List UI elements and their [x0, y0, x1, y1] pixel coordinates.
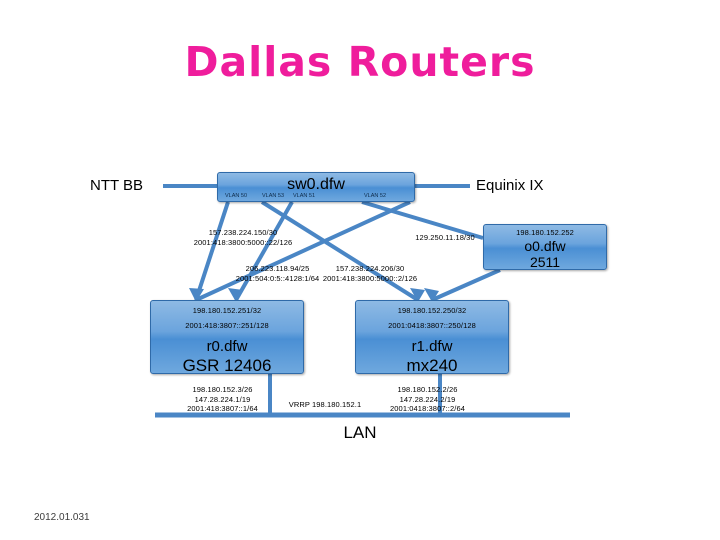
- annotation-lan-right: 198.180.152.2/26 147.28.224.2/19 2001:04…: [365, 385, 490, 414]
- r0-ipv6: 2001:418:3807::251/128: [151, 316, 303, 331]
- o0-ip: 198.180.152.252: [484, 225, 606, 238]
- label-equinix-ix: Equinix IX: [476, 177, 544, 194]
- label-ntt-bb: NTT BB: [90, 177, 143, 194]
- ntt-uplink-ipv4: 157.238.224.150/30: [168, 228, 318, 238]
- o0-link-ipv4: 129.250.11.18/30: [395, 233, 495, 243]
- lan-left-ipv6: 2001:418:3807::1/64: [160, 404, 285, 414]
- node-r1-dfw[interactable]: 198.180.152.250/32 2001:0418:3807::250/1…: [355, 300, 509, 374]
- annotation-lan-left: 198.180.152.3/26 147.28.224.1/19 2001:41…: [160, 385, 285, 414]
- equinix-peer-ipv4: 206.223.118.94/25: [230, 264, 325, 274]
- port-vlan-52[interactable]: VLAN 52: [364, 193, 386, 200]
- annotation-vrrp: VRRP 198.180.152.1: [270, 400, 380, 410]
- r1-ipv4: 198.180.152.250/32: [356, 301, 508, 316]
- wire-sw0-diagonal-left: [196, 202, 410, 300]
- port-vlan-50[interactable]: VLAN 50: [225, 193, 247, 200]
- slide-footer: 2012.01.031: [34, 512, 90, 523]
- slide-canvas: Dallas Routers: [0, 0, 720, 540]
- lan-right-ipv4-b: 147.28.224.2/19: [365, 395, 490, 405]
- lan-left-ipv4-b: 147.28.224.1/19: [160, 395, 285, 405]
- sw0-name: sw0.dfw: [218, 173, 414, 194]
- port-vlan-51[interactable]: VLAN 51: [293, 193, 315, 200]
- r1-name: r1.dfw: [356, 330, 508, 356]
- o0-name: o0.dfw: [484, 238, 606, 254]
- r1-model: mx240: [356, 356, 508, 376]
- o0-model: 2511: [484, 254, 606, 270]
- annotation-ntt-peer2: 157.238.224.206/30 2001:418:3800:5000::2…: [315, 264, 425, 283]
- annotation-ntt-uplink: 157.238.224.150/30 2001:418:3800:5000::2…: [168, 228, 318, 247]
- annotation-equinix-peer: 206.223.118.94/25 2001:504:0:5::4128:1/6…: [230, 264, 325, 283]
- node-sw0-dfw[interactable]: sw0.dfw VLAN 50 VLAN 53 VLAN 51 VLAN 52: [217, 172, 415, 202]
- sw0-vlan-ports: VLAN 50 VLAN 53 VLAN 51 VLAN 52: [218, 193, 416, 203]
- wire-vlan50-to-r0: [196, 202, 228, 300]
- r0-name: r0.dfw: [151, 330, 303, 356]
- r0-model: GSR 12406: [151, 356, 303, 376]
- port-vlan-53[interactable]: VLAN 53: [262, 193, 284, 200]
- r0-ipv4: 198.180.152.251/32: [151, 301, 303, 316]
- vrrp-address: VRRP 198.180.152.1: [270, 400, 380, 410]
- ntt-peer2-ipv4: 157.238.224.206/30: [315, 264, 425, 274]
- lan-left-ipv4-a: 198.180.152.3/26: [160, 385, 285, 395]
- equinix-peer-ipv6: 2001:504:0:5::4128:1/64: [230, 274, 325, 284]
- node-r0-dfw[interactable]: 198.180.152.251/32 2001:418:3807::251/12…: [150, 300, 304, 374]
- ntt-peer2-ipv6: 2001:418:3800:5000::2/126: [315, 274, 425, 284]
- ntt-uplink-ipv6: 2001:418:3800:5000::22/126: [168, 238, 318, 248]
- wire-vlan51-to-r0: [236, 202, 292, 300]
- annotation-o0-link: 129.250.11.18/30: [395, 233, 495, 243]
- lan-right-ipv4-a: 198.180.152.2/26: [365, 385, 490, 395]
- lan-right-ipv6: 2001:0418:3807::2/64: [365, 404, 490, 414]
- label-lan: LAN: [0, 423, 720, 443]
- node-o0-dfw[interactable]: 198.180.152.252 o0.dfw 2511: [483, 224, 607, 270]
- wire-o0-to-r1: [432, 270, 500, 300]
- r1-ipv6: 2001:0418:3807::250/128: [356, 316, 508, 331]
